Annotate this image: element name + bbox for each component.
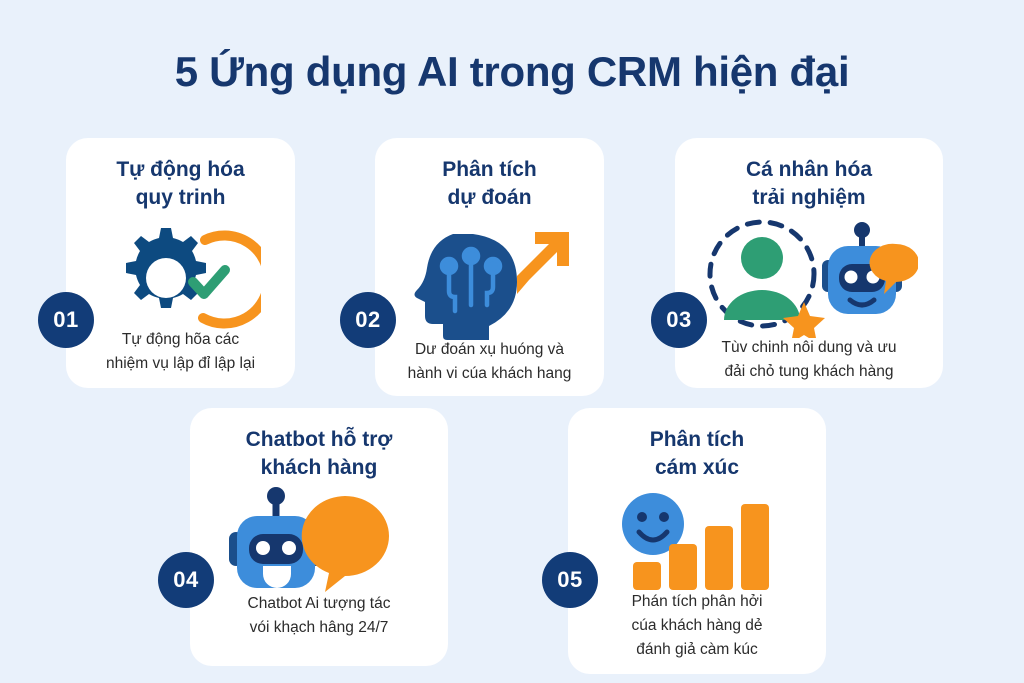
card-title: Tự động hóa quy trinh <box>66 156 295 212</box>
card-number-badge: 02 <box>340 292 396 348</box>
page-title: 5 Ứng dụng AI trong CRM hiện đại <box>0 48 1024 96</box>
gear-check-icon <box>66 220 295 332</box>
card-description: Phán tích phân hởi cúa khách hàng dẻ đán… <box>568 590 826 662</box>
chatbot-bubble-icon <box>190 484 448 602</box>
card-number-badge: 04 <box>158 552 214 608</box>
card-sentiment-analysis[interactable]: Phân tích cám xúc Phán tích phân hởi cúa… <box>568 408 826 674</box>
card-number-badge: 03 <box>651 292 707 348</box>
card-description: Tùv chinh nôi dung và ưu đải chỏ tung kh… <box>675 336 943 384</box>
brain-arrow-icon <box>375 220 604 340</box>
card-title: Cá nhân hóa trải nghiệm <box>675 156 943 212</box>
smiley-bars-icon <box>568 486 826 598</box>
card-automation[interactable]: Tự động hóa quy trinh Tự động hõa các nh… <box>66 138 295 388</box>
card-personalization[interactable]: Cá nhân hóa trải nghiệm Tùv chinh nôi du… <box>675 138 943 388</box>
card-predictive-analytics[interactable]: Phân tích dự đoán Dư đoán xụ huóng và hà… <box>375 138 604 396</box>
card-description: Chatbot Ai tượng tác vói khạch hâng 24/7 <box>190 592 448 640</box>
card-title: Phân tích cám xúc <box>568 426 826 482</box>
card-chatbot-support[interactable]: Chatbot hỗ trợ khách hàng Chatbot Ai tượ… <box>190 408 448 666</box>
card-title: Phân tích dự đoán <box>375 156 604 212</box>
card-description: Dư đoán xụ huóng và hành vi cúa khách ha… <box>375 338 604 386</box>
card-description: Tự động hõa các nhiệm vụ lập đỉ lập lại <box>66 328 295 376</box>
card-number-badge: 01 <box>38 292 94 348</box>
person-robot-icon <box>675 216 943 338</box>
infographic-canvas: 5 Ứng dụng AI trong CRM hiện đại Tự động… <box>0 0 1024 683</box>
card-title: Chatbot hỗ trợ khách hàng <box>190 426 448 482</box>
card-number-badge: 05 <box>542 552 598 608</box>
